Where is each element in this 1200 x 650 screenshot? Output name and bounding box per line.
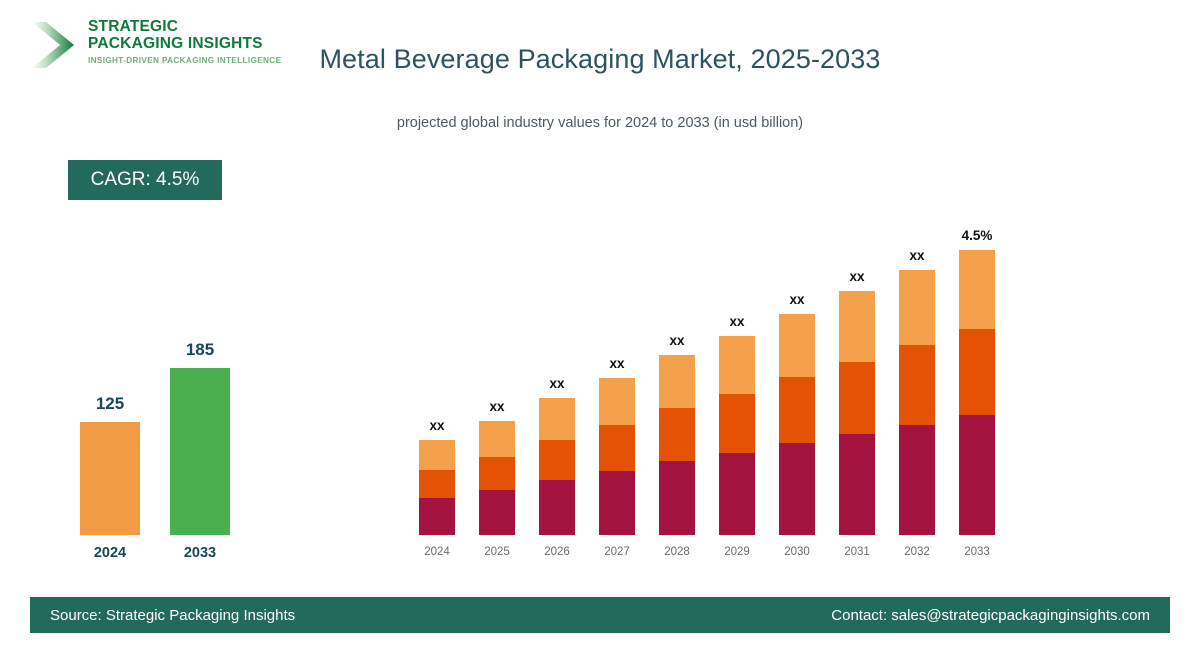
- stacked-bar-2033: [959, 250, 995, 535]
- stacked-bar-2031: [839, 291, 875, 535]
- chevron-icon: [30, 20, 82, 70]
- stack-segment-segment-1-2028: [659, 461, 695, 535]
- stack-segment-segment-1-2032: [899, 425, 935, 535]
- stacked-bar-label-2025: xx: [474, 399, 520, 414]
- stacked-bar-year-2033: 2033: [954, 546, 1000, 558]
- stacked-bar-year-2028: 2028: [654, 546, 700, 558]
- footer-source: Source: Strategic Packaging Insights: [50, 607, 295, 624]
- summary-bar-value-2024: 125: [80, 394, 140, 414]
- stack-segment-segment-3-2030: [779, 314, 815, 377]
- page-subtitle: projected global industry values for 202…: [260, 115, 940, 131]
- cagr-badge: CAGR: 4.5%: [68, 160, 222, 200]
- stack-segment-segment-2-2027: [599, 425, 635, 472]
- stack-segment-segment-3-2029: [719, 336, 755, 394]
- stack-segment-segment-3-2025: [479, 421, 515, 457]
- stack-segment-segment-3-2026: [539, 398, 575, 440]
- stacked-bar-label-2026: xx: [534, 376, 580, 391]
- stacked-bar-label-2033: 4.5%: [954, 228, 1000, 243]
- stack-segment-segment-2-2024: [419, 470, 455, 498]
- stacked-bar-2025: [479, 421, 515, 535]
- logo-wordmark: STRATEGIC PACKAGING INSIGHTS INSIGHT-DRI…: [88, 18, 281, 65]
- summary-bar-2024: [80, 422, 140, 535]
- stack-segment-segment-3-2032: [899, 270, 935, 345]
- page-title: Metal Beverage Packaging Market, 2025-20…: [260, 44, 940, 75]
- stacked-bar-2032: [899, 270, 935, 535]
- forecast-stacked-bar-chart: xx2024xx2025xx2026xx2027xx2028xx2029xx20…: [410, 200, 1010, 560]
- summary-bar-year-2033: 2033: [170, 545, 230, 561]
- bar-rect: [80, 422, 140, 535]
- summary-bar-chart: 12520241852033: [60, 300, 290, 565]
- stack-segment-segment-2-2031: [839, 362, 875, 435]
- footer-contact: Contact: sales@strategicpackaginginsight…: [831, 607, 1150, 624]
- stacked-bar-2024: [419, 440, 455, 535]
- logo-tagline: INSIGHT-DRIVEN PACKAGING INTELLIGENCE: [88, 56, 281, 65]
- stack-segment-segment-3-2033: [959, 250, 995, 329]
- logo-line-1: STRATEGIC: [88, 18, 281, 35]
- stacked-bar-label-2029: xx: [714, 314, 760, 329]
- stacked-bar-2028: [659, 355, 695, 535]
- chart-infographic-page: STRATEGIC PACKAGING INSIGHTS INSIGHT-DRI…: [0, 0, 1200, 650]
- stacked-bar-label-2032: xx: [894, 248, 940, 263]
- stack-segment-segment-3-2024: [419, 440, 455, 470]
- stacked-bar-year-2032: 2032: [894, 546, 940, 558]
- stack-segment-segment-2-2029: [719, 394, 755, 453]
- summary-bar-value-2033: 185: [170, 340, 230, 360]
- stacked-bar-label-2027: xx: [594, 356, 640, 371]
- stacked-bar-label-2031: xx: [834, 269, 880, 284]
- stack-segment-segment-1-2026: [539, 480, 575, 535]
- logo-line-2: PACKAGING INSIGHTS: [88, 35, 281, 52]
- stacked-bar-label-2030: xx: [774, 292, 820, 307]
- stack-segment-segment-1-2029: [719, 453, 755, 535]
- stack-segment-segment-2-2025: [479, 457, 515, 490]
- stack-segment-segment-3-2028: [659, 355, 695, 408]
- stack-segment-segment-1-2027: [599, 471, 635, 535]
- stack-segment-segment-2-2032: [899, 345, 935, 424]
- stack-segment-segment-2-2033: [959, 329, 995, 415]
- stack-segment-segment-2-2030: [779, 377, 815, 443]
- bar-rect: [170, 368, 230, 535]
- stacked-bar-year-2024: 2024: [414, 546, 460, 558]
- stacked-bar-2030: [779, 314, 815, 535]
- stacked-bar-year-2029: 2029: [714, 546, 760, 558]
- stacked-bar-2026: [539, 398, 575, 535]
- stack-segment-segment-1-2025: [479, 490, 515, 535]
- footer-bar: Source: Strategic Packaging Insights Con…: [30, 597, 1170, 633]
- cagr-badge-label: CAGR: 4.5%: [91, 169, 200, 191]
- stacked-bar-year-2025: 2025: [474, 546, 520, 558]
- stack-segment-segment-1-2024: [419, 498, 455, 535]
- stacked-bar-2029: [719, 336, 755, 535]
- summary-bar-2033: [170, 368, 230, 535]
- stack-segment-segment-1-2030: [779, 443, 815, 535]
- stacked-bar-year-2026: 2026: [534, 546, 580, 558]
- stacked-bar-label-2028: xx: [654, 333, 700, 348]
- stack-segment-segment-3-2031: [839, 291, 875, 362]
- stacked-bar-year-2030: 2030: [774, 546, 820, 558]
- stacked-bar-year-2027: 2027: [594, 546, 640, 558]
- stack-segment-segment-1-2031: [839, 434, 875, 535]
- stack-segment-segment-2-2028: [659, 408, 695, 461]
- stacked-bar-label-2024: xx: [414, 418, 460, 433]
- stack-segment-segment-1-2033: [959, 415, 995, 535]
- summary-bar-year-2024: 2024: [80, 545, 140, 561]
- stack-segment-segment-2-2026: [539, 440, 575, 480]
- stacked-bar-2027: [599, 378, 635, 535]
- brand-logo: STRATEGIC PACKAGING INSIGHTS INSIGHT-DRI…: [30, 14, 250, 76]
- stack-segment-segment-3-2027: [599, 378, 635, 425]
- stacked-bar-year-2031: 2031: [834, 546, 880, 558]
